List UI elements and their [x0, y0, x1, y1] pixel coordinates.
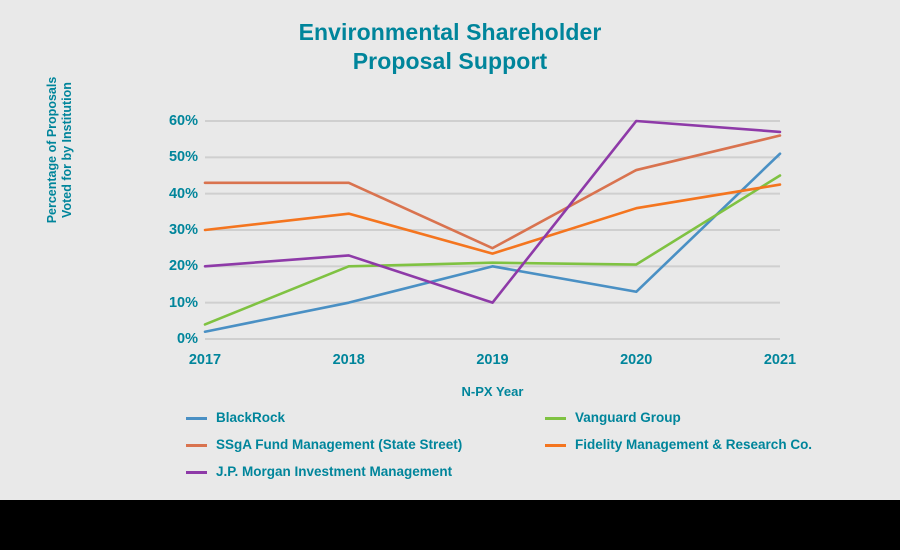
- y-axis-tick-label: 50%: [169, 149, 198, 165]
- y-axis-tick-label: 10%: [169, 295, 198, 311]
- chart-title-line-2: Proposal Support: [150, 47, 750, 76]
- chart-legend: BlackRockVanguard GroupSSgA Fund Managem…: [186, 408, 886, 484]
- y-axis-tick-label: 40%: [169, 186, 198, 202]
- chart-title-line-1: Environmental Shareholder: [150, 18, 750, 47]
- legend-color-swatch: [545, 444, 566, 447]
- legend-item[interactable]: Vanguard Group: [545, 411, 681, 425]
- x-axis-tick-label: 2021: [764, 352, 796, 368]
- legend-item-label: BlackRock: [216, 411, 285, 425]
- legend-item[interactable]: Fidelity Management & Research Co.: [545, 438, 812, 452]
- legend-item[interactable]: BlackRock: [186, 411, 285, 425]
- y-axis-title-line-2: Voted for by Institution: [60, 55, 75, 245]
- legend-item-label: J.P. Morgan Investment Management: [216, 465, 452, 479]
- y-axis-tick-label: 60%: [169, 113, 198, 129]
- x-axis-tick-labels: 20172018201920202021: [205, 352, 780, 374]
- series-line: [205, 136, 780, 249]
- chart-title: Environmental Shareholder Proposal Suppo…: [150, 18, 750, 76]
- y-axis-title: Percentage of Proposals Voted for by Ins…: [45, 55, 75, 245]
- y-axis-tick-label: 30%: [169, 222, 198, 238]
- series-line: [205, 121, 780, 303]
- legend-color-swatch: [186, 417, 207, 420]
- plot-area: [205, 121, 780, 339]
- legend-item-label: SSgA Fund Management (State Street): [216, 438, 462, 452]
- legend-item[interactable]: J.P. Morgan Investment Management: [186, 465, 452, 479]
- y-axis-tick-label: 0%: [177, 331, 198, 347]
- series-line: [205, 154, 780, 332]
- legend-color-swatch: [186, 471, 207, 474]
- series-lines: [205, 121, 780, 332]
- x-axis-tick-label: 2020: [620, 352, 652, 368]
- legend-item-label: Fidelity Management & Research Co.: [575, 438, 812, 452]
- legend-item[interactable]: SSgA Fund Management (State Street): [186, 438, 462, 452]
- legend-color-swatch: [186, 444, 207, 447]
- series-line: [205, 185, 780, 254]
- x-axis-tick-label: 2017: [189, 352, 221, 368]
- x-axis-tick-label: 2018: [333, 352, 365, 368]
- legend-item-label: Vanguard Group: [575, 411, 681, 425]
- bottom-black-bar: [0, 500, 900, 550]
- y-axis-tick-labels: 0%10%20%30%40%50%60%: [130, 110, 198, 350]
- x-axis-title: N-PX Year: [205, 384, 780, 399]
- chart-figure: Environmental Shareholder Proposal Suppo…: [0, 0, 900, 500]
- plot-svg: [205, 121, 780, 339]
- y-axis-title-line-1: Percentage of Proposals: [45, 55, 60, 245]
- legend-color-swatch: [545, 417, 566, 420]
- y-axis-tick-label: 20%: [169, 258, 198, 274]
- x-axis-tick-label: 2019: [476, 352, 508, 368]
